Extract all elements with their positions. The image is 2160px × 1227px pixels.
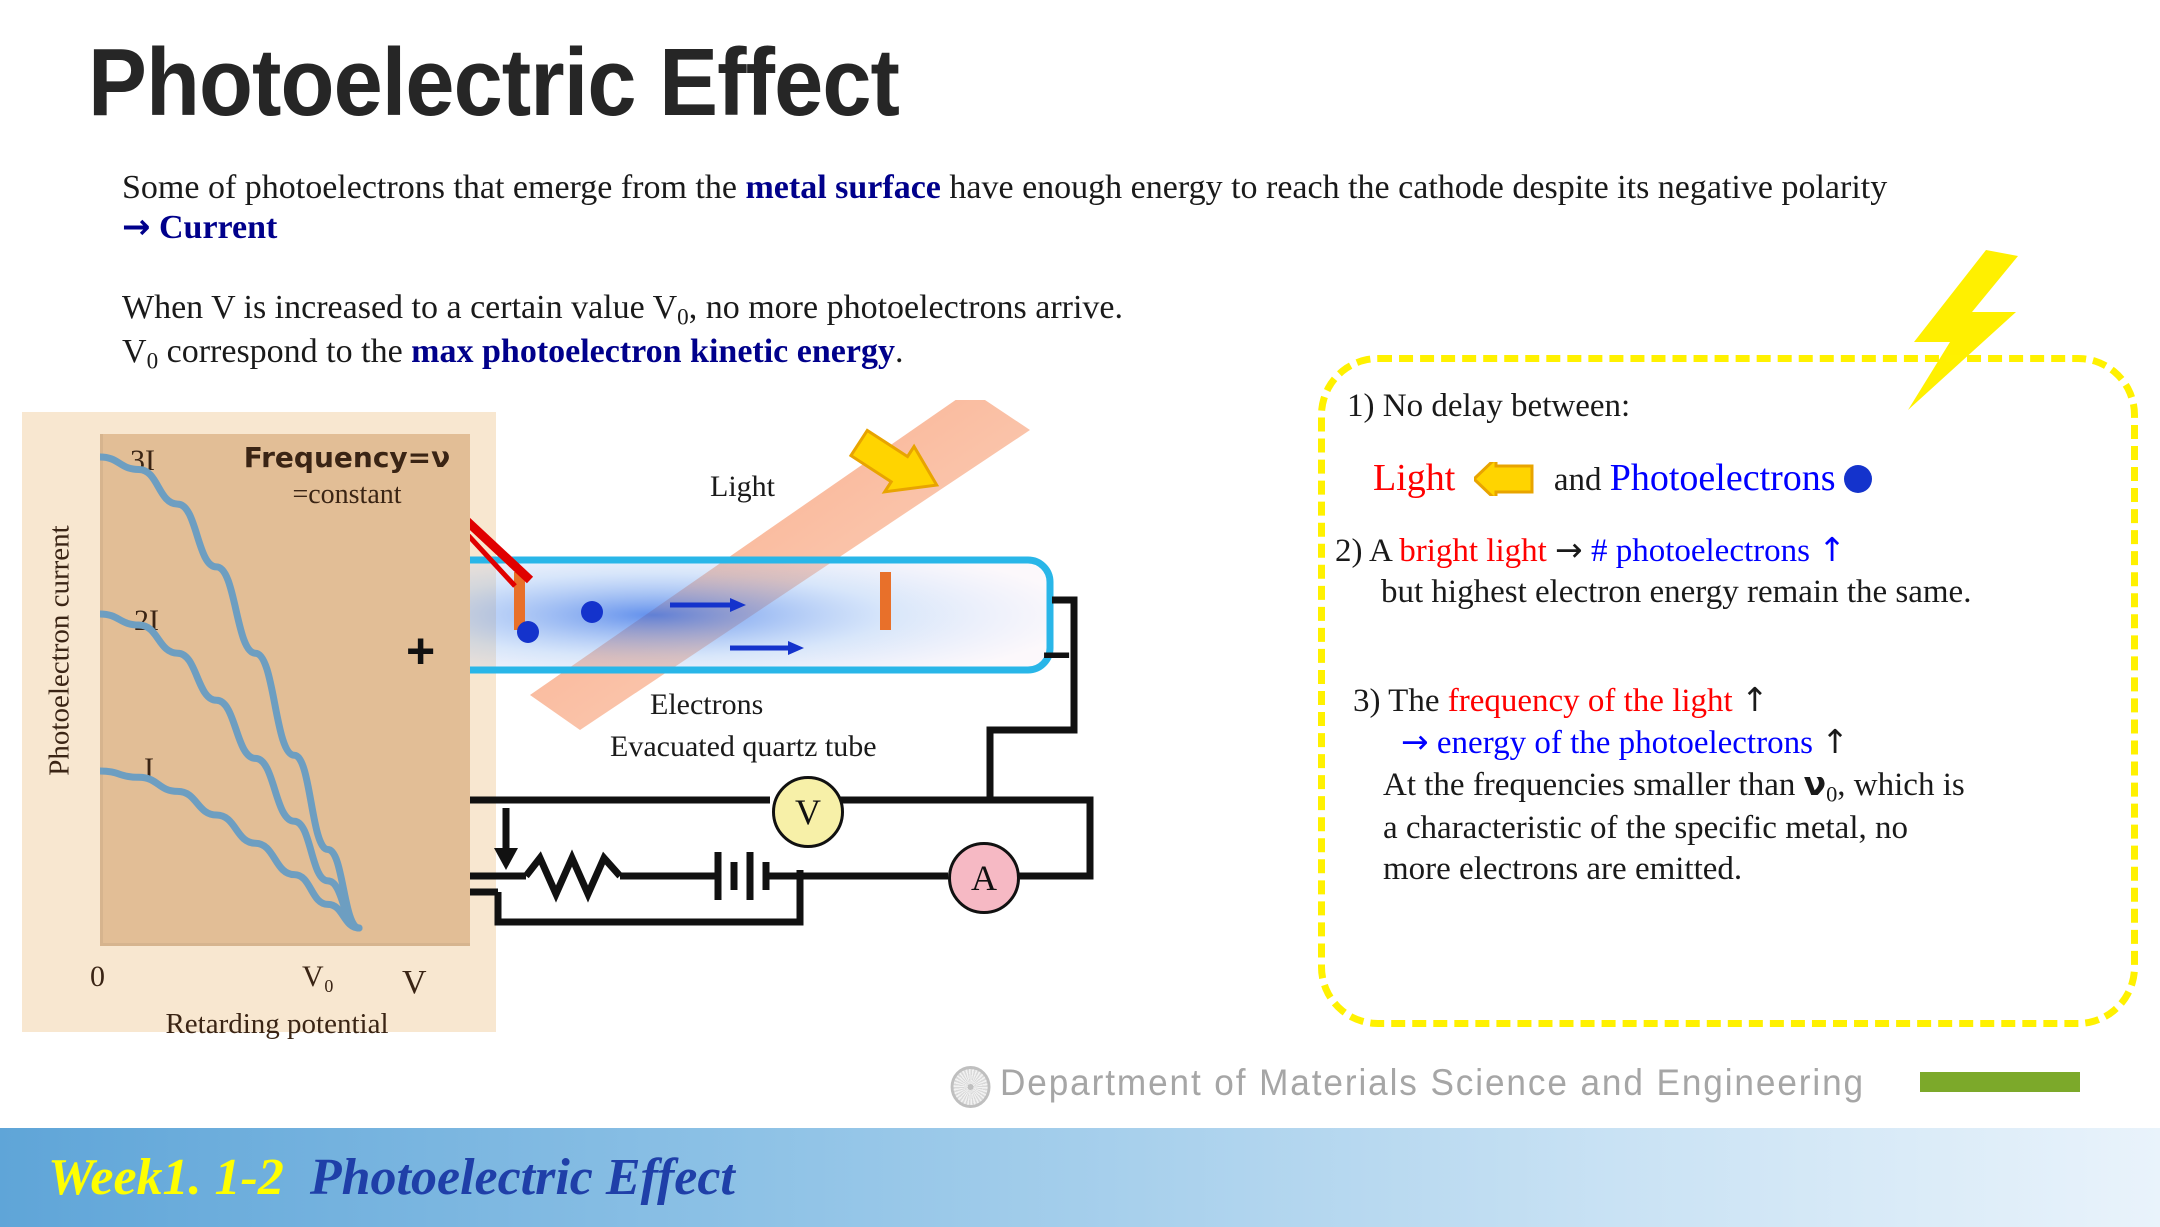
note3-line3-b: , which is [1837, 767, 1964, 803]
para1-arrow-icon: → [122, 207, 151, 247]
university-seal-icon [951, 1066, 991, 1108]
para2-line1: When V is increased to a certain value V… [122, 288, 1522, 332]
bottom-bar-title: Photoelectric Effect [310, 1149, 735, 1206]
bottom-bar-week: Week1. 1-2 [48, 1149, 284, 1206]
electron-dot-icon [1844, 465, 1872, 493]
para2-line2-b: correspond to the [158, 333, 411, 370]
photocurrent-vs-retarding-potential-chart: Photoelectron current 3I 2I I Frequency=… [22, 412, 496, 1032]
paragraph-intro: Some of photoelectrons that emerge from … [122, 168, 1922, 248]
para2-line2-sub: 0 [147, 348, 159, 374]
note1-line2: Light and Photoelectrons [1373, 455, 2107, 502]
note-2-bright-light: 2) A bright light → # photoelectrons ↑ b… [1335, 530, 2125, 613]
voltmeter: V [772, 776, 844, 848]
para2-line2-c: . [895, 333, 904, 370]
note2-a: A [1369, 533, 1399, 569]
para2-line2-a: V [122, 333, 147, 370]
note2-number: 2) [1335, 533, 1363, 569]
page-title: Photoelectric Effect [88, 28, 899, 138]
note3-up-arrow-1-icon: ↑ [1741, 680, 1769, 719]
note3-line4: a characteristic of the specific metal, … [1383, 808, 2133, 849]
chart-y-axis-label: Photoelectron current [44, 471, 77, 831]
chart-x-tick-V: V [402, 964, 427, 1002]
paragraph-stopping-voltage: When V is increased to a certain value V… [122, 288, 1522, 375]
cathode-minus-label: − [1042, 626, 1071, 684]
para2-line1-a: When V is increased to a certain value V [122, 289, 677, 326]
note-3-frequency: 3) The frequency of the light ↑ → energy… [1353, 680, 2133, 890]
chart-x-tick-V0: V₀ [302, 960, 334, 994]
department-footer: Department of Materials Science and Engi… [1000, 1062, 1865, 1104]
note2-line2: but highest electron energy remain the s… [1381, 572, 2125, 613]
para2-line1-sub: 0 [677, 304, 689, 330]
note3-arrow-icon: → [1401, 722, 1429, 761]
note3-number: 3) [1353, 683, 1381, 719]
note2-up-arrow-icon: ↑ [1818, 530, 1846, 569]
note1-light-label: Light [1373, 457, 1455, 499]
para1-part2: have enough energy to reach the cathode … [941, 169, 1887, 206]
para2-line2: V0 correspond to the max photoelectron k… [122, 332, 1522, 376]
light-label: Light [710, 470, 775, 504]
note3-line3: At the frequencies smaller than ν0, whic… [1383, 764, 2133, 808]
note1-line1: 1) No delay between: [1347, 386, 2107, 427]
note1-and-label: and [1554, 462, 1602, 498]
chart-curves [100, 434, 470, 946]
note3-line5: more electrons are emitted. [1383, 849, 2133, 890]
apparatus-svg [470, 400, 1270, 960]
electrons-label: Electrons [650, 688, 763, 722]
photoelectric-apparatus-diagram: Light Electrons Evacuated quartz tube + … [470, 400, 1270, 960]
evacuated-quartz-tube-label: Evacuated quartz tube [610, 730, 877, 764]
note2-line1: 2) A bright light → # photoelectrons ↑ [1335, 530, 2125, 572]
footer-accent-bar [1920, 1072, 2080, 1092]
para1-highlight-current: Current [159, 209, 277, 246]
department-label: Department of Materials Science and Engi… [1000, 1062, 1865, 1103]
note3-a: The [1388, 683, 1448, 719]
ammeter: A [948, 842, 1020, 914]
yellow-arrow-icon [1474, 462, 1536, 496]
note2-photoelectron-count: # photoelectrons [1591, 533, 1810, 569]
note3-line3-a: At the frequencies smaller than [1383, 767, 1804, 803]
note3-line1: 3) The frequency of the light ↑ [1353, 680, 2133, 722]
note1-photoelectrons-label: Photoelectrons [1610, 457, 1836, 499]
para1-highlight-metal-surface: metal surface [745, 169, 940, 206]
bottom-bar-text: Week1. 1-2Photoelectric Effect [48, 1148, 735, 1207]
key-observations-callout: 1) No delay between: Light and Photoelec… [1318, 355, 2138, 1027]
note3-line2: → energy of the photoelectrons ↑ [1401, 722, 2133, 764]
chart-x-axis-label: Retarding potential [82, 1008, 472, 1041]
para2-line1-b: , no more photoelectrons arrive. [689, 289, 1123, 326]
note3-frequency-of-light: frequency of the light [1448, 683, 1733, 719]
chart-x-tick-0: 0 [90, 960, 105, 994]
note3-nu-subscript: 0 [1826, 781, 1837, 806]
note3-nu-symbol: ν [1804, 764, 1826, 803]
anode-plus-label: + [406, 622, 435, 680]
para2-highlight-max-ke: max photoelectron kinetic energy [411, 333, 895, 370]
note1-text: No delay between: [1383, 388, 1630, 424]
note3-up-arrow-2-icon: ↑ [1821, 722, 1849, 761]
note-1-no-delay: 1) No delay between: Light and Photoelec… [1347, 386, 2107, 502]
note3-energy-photoelectrons: energy of the photoelectrons [1437, 725, 1813, 761]
note2-bright-light: bright light [1399, 533, 1547, 569]
note1-number: 1) [1347, 388, 1375, 424]
note2-arrow-icon: → [1555, 530, 1583, 569]
para1-part1: Some of photoelectrons that emerge from … [122, 169, 745, 206]
